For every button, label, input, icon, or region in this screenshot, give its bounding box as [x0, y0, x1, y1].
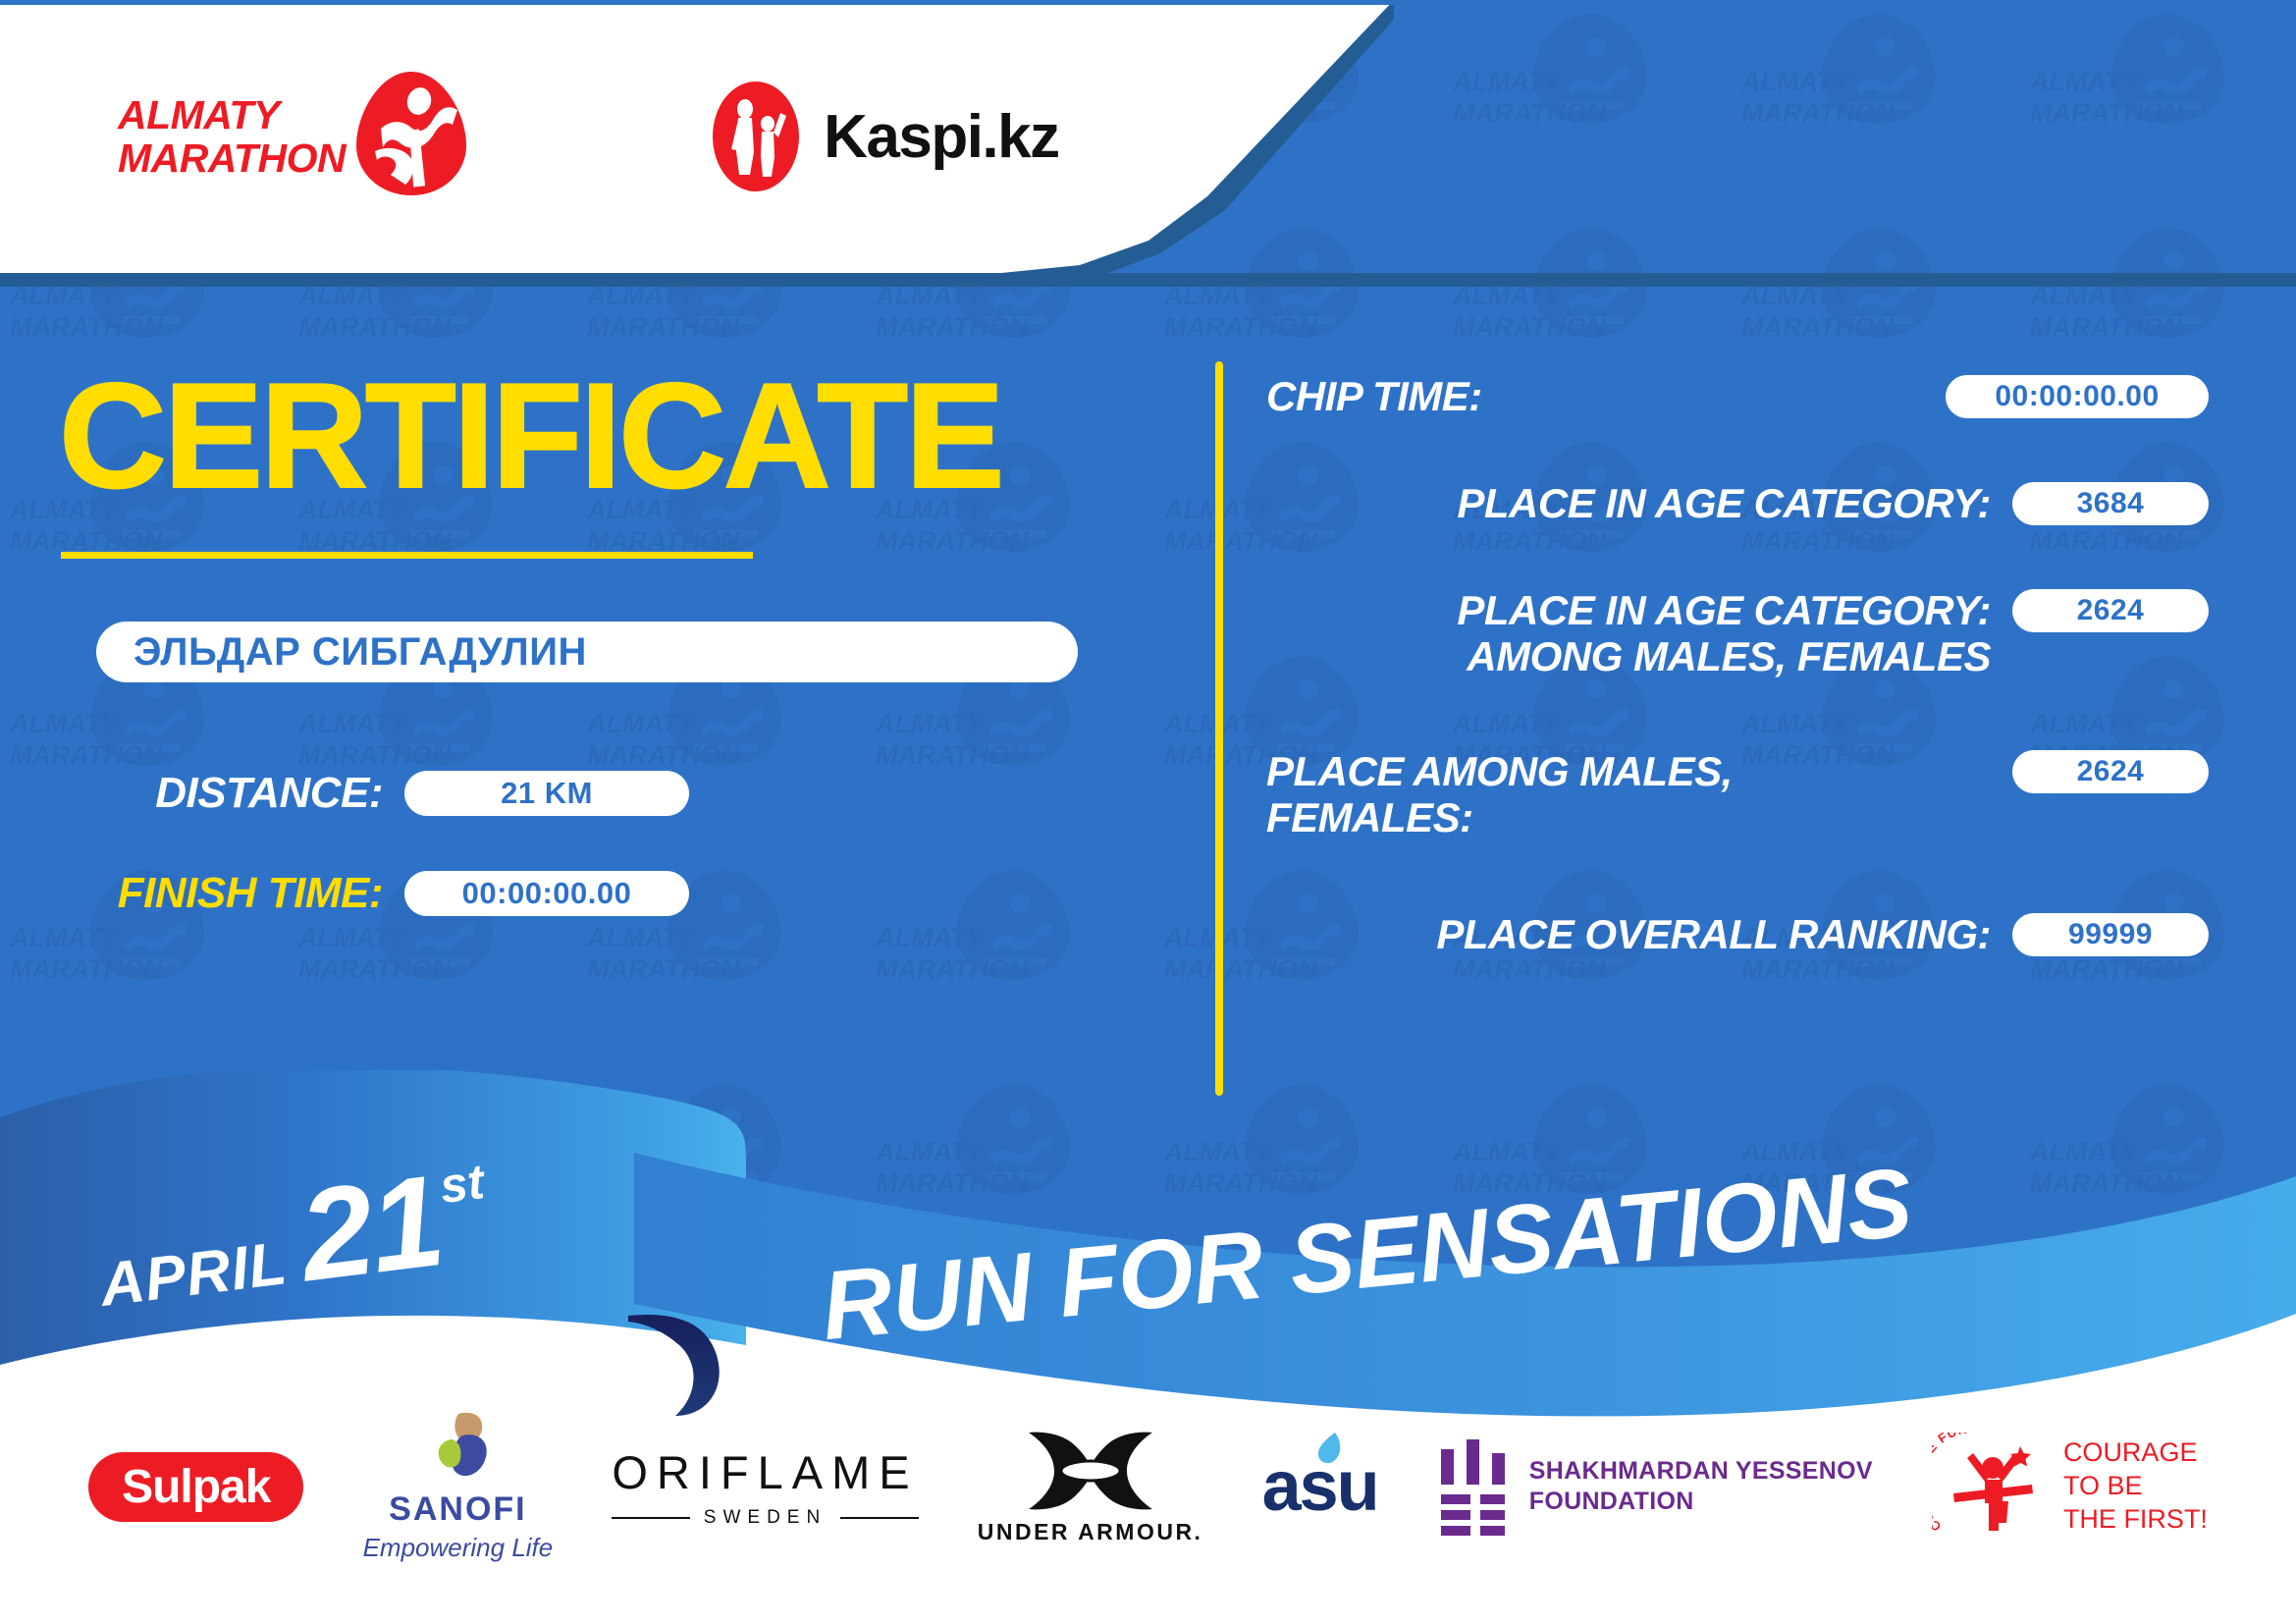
sponsor-oriflame-sub-row: SWEDEN [612, 1507, 918, 1529]
rule-right [840, 1517, 918, 1519]
chip-time-value: 00:00:00.00 [1995, 380, 2159, 413]
place-age-category-gender-value: 2624 [2077, 594, 2145, 627]
chip-time-value-pill: 00:00:00.00 [1946, 375, 2209, 418]
kaspi-logo: Kaspi.kz [710, 79, 1059, 194]
place-overall-ranking-label: PLACE OVERALL RANKING: [1266, 911, 1991, 957]
sponsor-under-armour-label: UNDER ARMOUR. [978, 1519, 1203, 1545]
place-among-gender-value: 2624 [2077, 755, 2145, 788]
distance-value-pill: 21 KM [404, 771, 689, 816]
distance-row: DISTANCE: 21 KM [96, 769, 1178, 818]
distance-value: 21 KM [501, 776, 593, 811]
place-among-gender-value-pill: 2624 [2012, 750, 2209, 793]
event-day-suffix: st [437, 1153, 487, 1215]
finish-time-label: FINISH TIME: [96, 869, 383, 918]
place-age-category-gender-label: PLACE IN AGE CATEGORY: AMONG MALES, FEMA… [1266, 587, 1991, 679]
label-line-2: FEMALES: [1266, 794, 1991, 840]
marathon-line: MARATHON [118, 136, 346, 180]
kaspi-wordmark: Kaspi.kz [824, 102, 1059, 172]
place-overall-ranking-value-pill: 99999 [2012, 913, 2209, 956]
sponsor-oriflame-logo: ORIFLAME SWEDEN [612, 1445, 918, 1529]
sponsor-oriflame-sub: SWEDEN [704, 1507, 827, 1529]
title-underline [61, 552, 753, 559]
place-among-gender-row: PLACE AMONG MALES, FEMALES: 2624 [1266, 748, 2209, 840]
sanofi-mark-icon [415, 1410, 500, 1487]
athlete-name-field: ЭЛЬДАР СИБГАДУЛИН [96, 622, 1078, 682]
label-line-2: AMONG MALES, FEMALES [1266, 633, 1991, 679]
rule-left [612, 1517, 689, 1519]
chip-time-row: CHIP TIME: 00:00:00.00 [1266, 373, 2209, 419]
place-age-category-value: 3684 [2077, 487, 2145, 520]
event-day: 21 [293, 1146, 450, 1310]
sponsor-courage-label: COURAGE TO BE THE FIRST! [2063, 1436, 2208, 1536]
almaty-marathon-wordmark: ALMATY MARATHON [118, 93, 346, 181]
place-overall-ranking-value: 99999 [2068, 918, 2153, 951]
sponsor-yessenov-label: SHAKHMARDAN YESSENOV FOUNDATION [1529, 1456, 1873, 1518]
place-overall-ranking-row: PLACE OVERALL RANKING: 99999 [1266, 911, 2209, 957]
sponsor-sulpak-logo: Sulpak [88, 1452, 303, 1522]
sponsor-courage-fund-logo: CORPORATE FUND COURAGE TO BE THE FIRST! [1932, 1433, 2208, 1541]
sponsor-oriflame-label: ORIFLAME [612, 1445, 918, 1499]
yessenov-line-2: FOUNDATION [1529, 1487, 1873, 1517]
chip-time-label: CHIP TIME: [1266, 373, 1924, 419]
svg-text:CORPORATE FUND: CORPORATE FUND [1932, 1433, 1979, 1535]
event-month: APRIL [96, 1228, 291, 1321]
header-logos: ALMATY MARATHON [0, 0, 1129, 273]
place-age-category-label: PLACE IN AGE CATEGORY: [1266, 480, 1991, 526]
courage-runner-icon: CORPORATE FUND [1932, 1433, 2050, 1541]
kaspi-person-icon [710, 79, 802, 194]
place-age-category-row: PLACE IN AGE CATEGORY: 3684 [1266, 480, 2209, 526]
sponsor-strip: Sulpak SANOFI Empowering Life ORIFLAME S… [0, 1349, 2296, 1624]
place-age-category-gender-value-pill: 2624 [2012, 589, 2209, 632]
asu-accent-drop-icon [1311, 1431, 1345, 1470]
place-among-gender-label: PLACE AMONG MALES, FEMALES: [1266, 748, 1991, 840]
finish-time-value-pill: 00:00:00.00 [404, 871, 689, 916]
yessenov-line-1: SHAKHMARDAN YESSENOV [1529, 1456, 1873, 1487]
sponsor-asu-logo: asu [1262, 1446, 1378, 1527]
sponsor-sanofi-label: SANOFI [389, 1490, 526, 1529]
place-age-category-gender-row: PLACE IN AGE CATEGORY: AMONG MALES, FEMA… [1266, 587, 2209, 679]
vertical-divider [1215, 361, 1223, 1096]
page-title: CERTIFICATE [59, 361, 1178, 511]
distance-label: DISTANCE: [96, 769, 383, 818]
sponsor-under-armour-logo: UNDER ARMOUR. [978, 1429, 1203, 1545]
athlete-name-value: ЭЛЬДАР СИБГАДУЛИН [133, 630, 587, 675]
sponsor-sulpak-label: Sulpak [122, 1460, 270, 1514]
under-armour-icon [1025, 1429, 1156, 1513]
almaty-marathon-logo: ALMATY MARATHON [118, 69, 469, 204]
yessenov-bars-icon [1437, 1437, 1512, 1536]
runner-drop-icon [353, 69, 469, 198]
courage-line-3: THE FIRST! [2063, 1503, 2208, 1537]
courage-line-1: COURAGE [2063, 1436, 2208, 1470]
sponsor-sanofi-tagline: Empowering Life [363, 1533, 554, 1563]
finish-time-row: FINISH TIME: 00:00:00.00 [96, 869, 1178, 918]
left-column: CERTIFICATE ЭЛЬДАР СИБГАДУЛИН DISTANCE: … [0, 287, 1178, 918]
label-line-1: PLACE AMONG MALES, [1266, 748, 1991, 794]
almaty-line: ALMATY [118, 93, 346, 136]
sponsor-yessenov-foundation-logo: SHAKHMARDAN YESSENOV FOUNDATION [1437, 1437, 1873, 1536]
courage-line-2: TO BE [2063, 1470, 2208, 1503]
place-age-category-value-pill: 3684 [2012, 482, 2209, 525]
sponsor-sanofi-logo: SANOFI Empowering Life [363, 1410, 554, 1563]
certificate-canvas: ALMATY MARATHON ALMATY MARATHON [0, 0, 2296, 1624]
label-line-1: PLACE IN AGE CATEGORY: [1266, 587, 1991, 633]
right-column: CHIP TIME: 00:00:00.00 PLACE IN AGE CATE… [1266, 373, 2209, 957]
finish-time-value: 00:00:00.00 [462, 876, 632, 911]
